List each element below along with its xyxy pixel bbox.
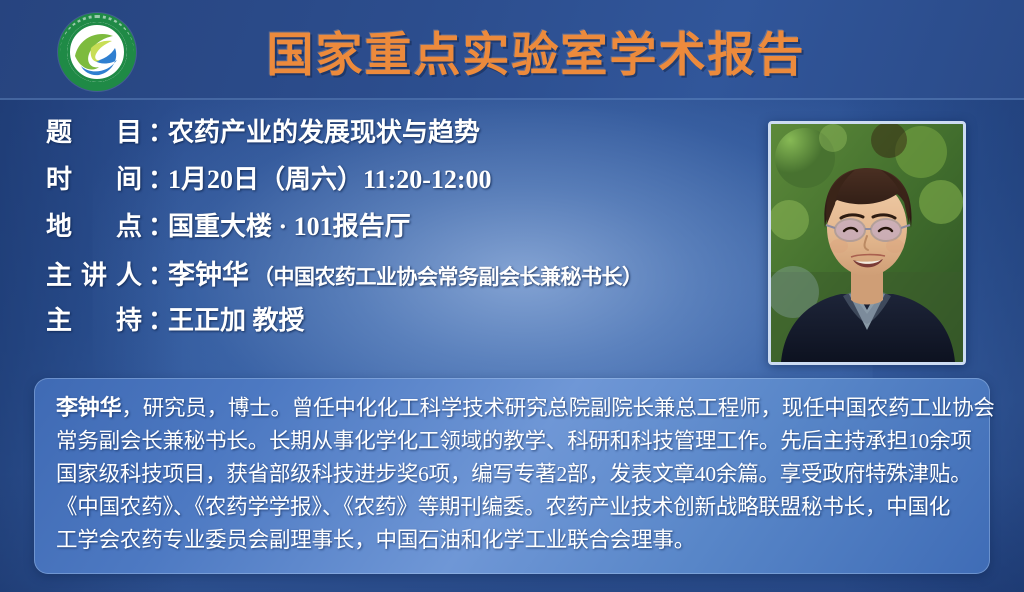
state-key-laboratory-emblem-icon xyxy=(58,13,136,91)
emblem-inner-disc xyxy=(67,22,127,82)
speaker-value: 李钟华（中国农药工业协会常务副会长兼秘书长） xyxy=(168,253,643,292)
topic-label: 题目 ： xyxy=(46,112,168,149)
seminar-poster: 国家重点实验室学术报告 题目 ： 农药产业的发展现状与趋势 时间 ： 1月20日… xyxy=(0,0,1024,592)
speaker-label: 主讲人 ： xyxy=(46,255,168,292)
time-label: 时间 ： xyxy=(46,159,168,196)
topic-value: 农药产业的发展现状与趋势 xyxy=(168,112,480,149)
detail-row-time: 时间 ： 1月20日（周六）11:20-12:00 xyxy=(46,159,766,206)
location-label: 地点 ： xyxy=(46,206,168,243)
bio-lead-name: 李钟华 xyxy=(56,396,121,421)
host-value: 王正加 教授 xyxy=(168,300,305,337)
detail-row-location: 地点 ： 国重大楼 · 101报告厅 xyxy=(46,206,766,253)
bio-line: 国家级科技项目，获省部级科技进步奖6项，编写专著2部，发表文章40余篇。享受政府… xyxy=(56,458,968,491)
detail-row-topic: 题目 ： 农药产业的发展现状与趋势 xyxy=(46,112,766,159)
location-value: 国重大楼 · 101报告厅 xyxy=(168,206,411,243)
speaker-portrait xyxy=(768,121,966,365)
bio-line: 《中国农药》、《农药学学报》、《农药》等期刊编委。农药产业技术创新战略联盟秘书长… xyxy=(56,491,968,524)
page-title: 国家重点实验室学术报告 xyxy=(196,16,876,85)
detail-row-speaker: 主讲人 ： 李钟华（中国农药工业协会常务副会长兼秘书长） xyxy=(46,253,766,300)
bio-line: 常务副会长兼秘书长。长期从事化学化工领域的教学、科研和科技管理工作。先后主持承担… xyxy=(56,425,968,458)
bio-line: 李钟华，研究员，博士。曾任中化化工科学技术研究总院副院长兼总工程师，现任中国农药… xyxy=(56,392,968,425)
emblem-swirl-icon xyxy=(67,22,127,82)
detail-row-host: 主持 ： 王正加 教授 xyxy=(46,300,766,347)
bio-line-text: ，研究员，博士。曾任中化化工科学技术研究总院副院长兼总工程师，现任中国农药工业协… xyxy=(121,396,994,420)
poster-header: 国家重点实验室学术报告 xyxy=(0,0,1024,100)
speaker-portrait-image xyxy=(771,124,963,362)
speaker-affiliation: （中国农药工业协会常务副会长兼秘书长） xyxy=(253,265,643,289)
seminar-details: 题目 ： 农药产业的发展现状与趋势 时间 ： 1月20日（周六）11:20-12… xyxy=(46,112,766,347)
speaker-biography-panel: 李钟华，研究员，博士。曾任中化化工科学技术研究总院副院长兼总工程师，现任中国农药… xyxy=(34,378,990,574)
time-value: 1月20日（周六）11:20-12:00 xyxy=(168,159,492,196)
host-label: 主持 ： xyxy=(46,300,168,337)
speaker-name: 李钟华 xyxy=(168,260,249,290)
bio-line: 工学会农药专业委员会副理事长，中国石油和化学工业联合会理事。 xyxy=(56,524,968,557)
